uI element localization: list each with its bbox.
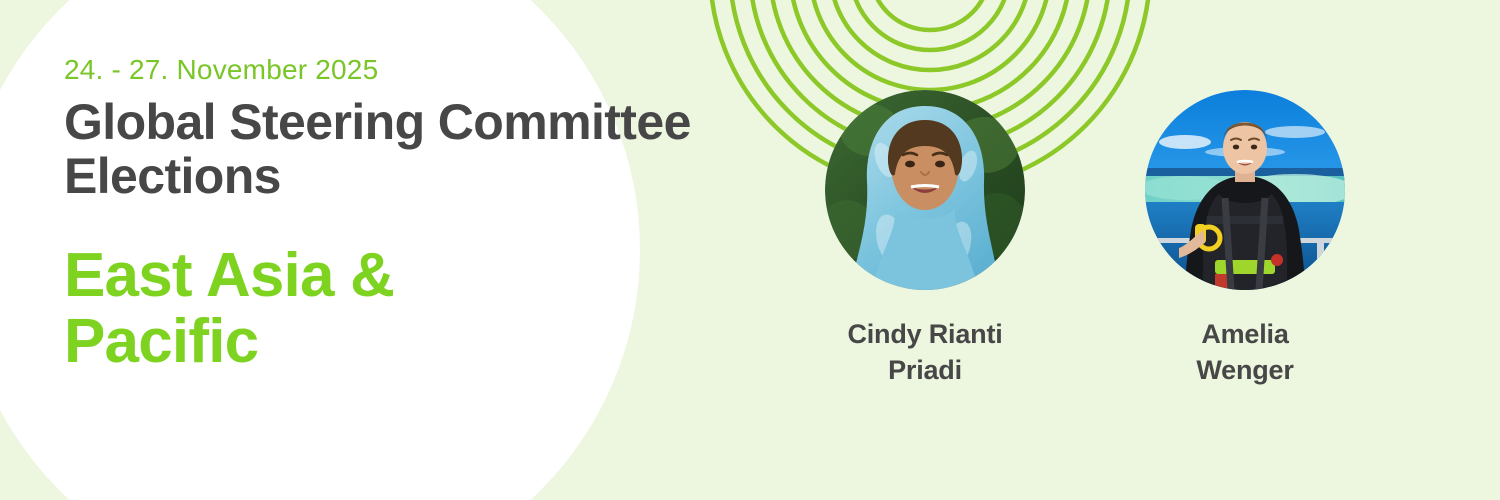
avatar-photo-icon xyxy=(1145,90,1345,290)
event-date-range: 24. - 27. November 2025 xyxy=(64,52,764,87)
candidate-list: Cindy Rianti Priadi xyxy=(820,90,1350,389)
avatar xyxy=(825,90,1025,290)
candidate-card: Cindy Rianti Priadi xyxy=(820,90,1030,389)
headline-block: 24. - 27. November 2025 Global Steering … xyxy=(64,52,764,374)
candidate-name: Amelia Wenger xyxy=(1160,316,1330,389)
region-name: East Asia & Pacific xyxy=(64,243,534,374)
candidate-name: Cindy Rianti Priadi xyxy=(820,316,1030,389)
election-banner: 24. - 27. November 2025 Global Steering … xyxy=(0,0,1500,500)
candidate-card: Amelia Wenger xyxy=(1140,90,1350,389)
avatar xyxy=(1145,90,1345,290)
page-title: Global Steering Committee Elections xyxy=(64,95,764,203)
avatar-photo-icon xyxy=(825,90,1025,290)
